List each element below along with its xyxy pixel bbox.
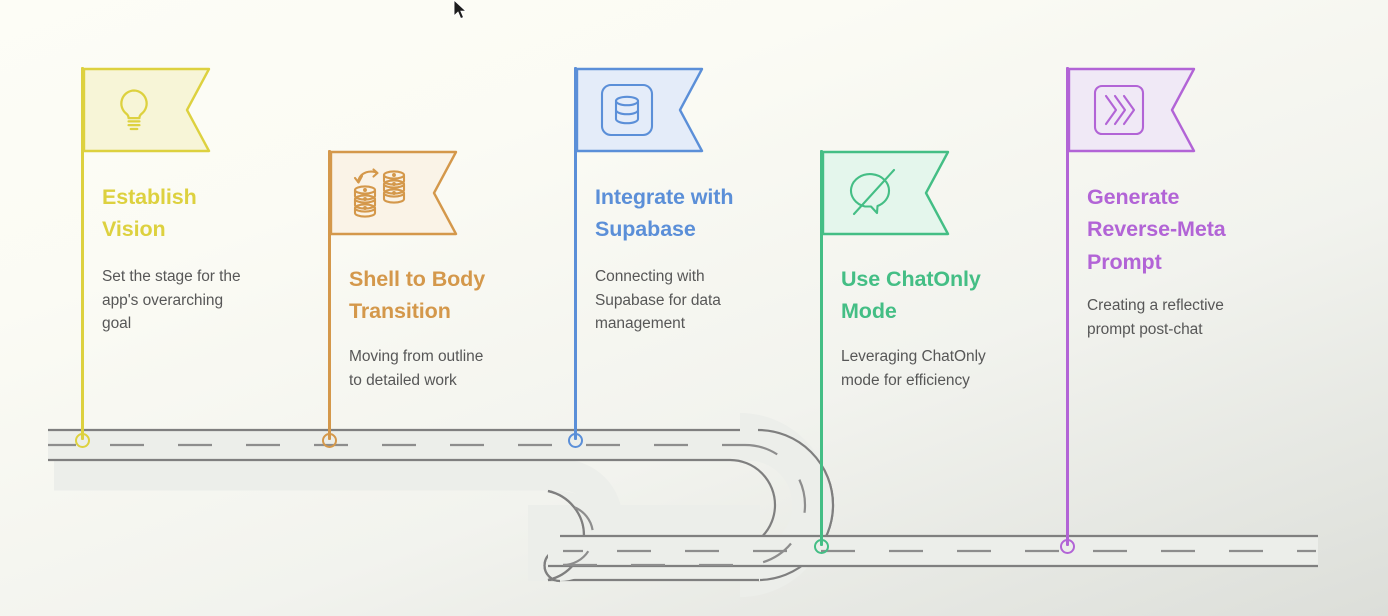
lightbulb-icon bbox=[108, 84, 160, 136]
milestone-flag[interactable] bbox=[83, 67, 211, 153]
road-marker-establish-vision[interactable] bbox=[75, 433, 90, 448]
milestone-flag[interactable] bbox=[330, 150, 458, 236]
chat-disabled-icon bbox=[844, 166, 902, 220]
milestone-title: Integrate with Supabase bbox=[595, 181, 795, 246]
milestone-description: Connecting with Supabase for data manage… bbox=[595, 265, 800, 336]
road-marker-integrate-with-supabase[interactable] bbox=[568, 433, 583, 448]
fast-forward-icon bbox=[1091, 82, 1147, 138]
milestone-flag[interactable] bbox=[1068, 67, 1196, 153]
road-marker-generate-reverse-meta-prompt[interactable] bbox=[1060, 539, 1075, 554]
milestone-description: Moving from outline to detailed work bbox=[349, 345, 554, 392]
roadmap-diagram: Establish VisionSet the stage for the ap… bbox=[0, 0, 1388, 616]
milestone-description: Creating a reflective prompt post-chat bbox=[1087, 294, 1292, 341]
milestone-description: Set the stage for the app's overarching … bbox=[102, 265, 307, 336]
milestone-description: Leveraging ChatOnly mode for efficiency bbox=[841, 345, 1046, 392]
database-icon bbox=[597, 80, 657, 140]
road-marker-use-chatonly-mode[interactable] bbox=[814, 539, 829, 554]
database-migration-icon bbox=[350, 168, 412, 218]
milestone-flag[interactable] bbox=[822, 150, 950, 236]
milestone-title: Shell to Body Transition bbox=[349, 263, 549, 328]
milestone-flag[interactable] bbox=[576, 67, 704, 153]
milestone-title: Use ChatOnly Mode bbox=[841, 263, 1041, 328]
milestone-title: Generate Reverse-Meta Prompt bbox=[1087, 181, 1287, 278]
road-marker-shell-to-body-transition[interactable] bbox=[322, 433, 337, 448]
milestone-title: Establish Vision bbox=[102, 181, 302, 246]
